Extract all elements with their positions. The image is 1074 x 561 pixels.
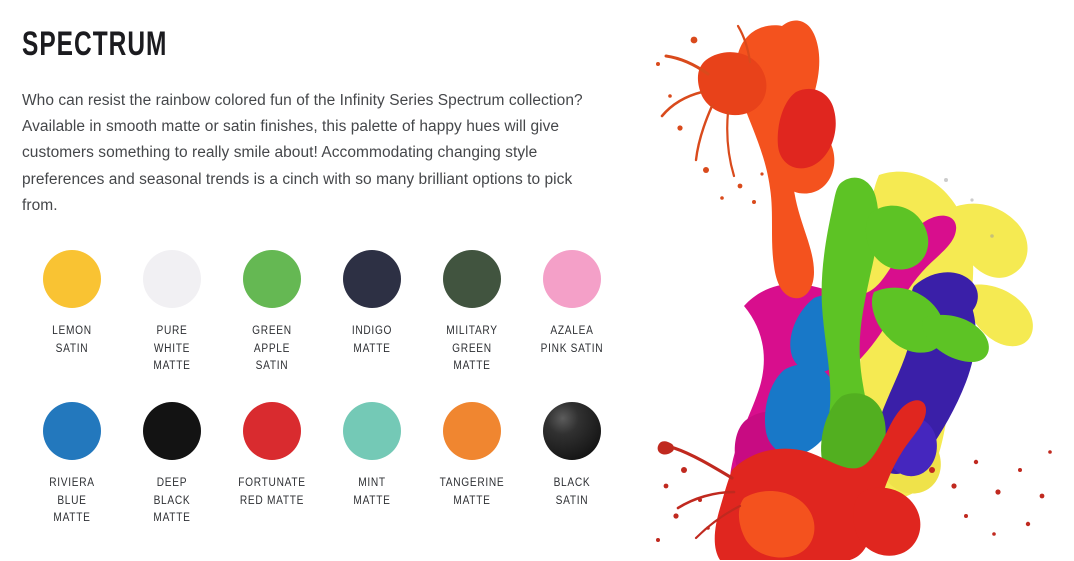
swatch-row-1: LEMON SATIN PURE WHITE MATTE GREEN APPLE… — [22, 250, 622, 402]
swatch-lemon-satin[interactable]: LEMON SATIN — [22, 250, 122, 357]
swatch-color-circle[interactable] — [143, 250, 201, 308]
swatch-fortunate-red-matte[interactable]: FORTUNATE RED MATTE — [222, 402, 322, 509]
swatch-color-circle[interactable] — [243, 402, 301, 460]
swatch-label: MILITARY GREEN MATTE — [424, 322, 521, 375]
paint-splash-image — [636, 0, 1074, 561]
page-title: SPECTRUM — [22, 24, 167, 64]
swatch-label: RIVIERA BLUE MATTE — [24, 474, 121, 527]
swatch-deep-black-matte[interactable]: DEEP BLACK MATTE — [122, 402, 222, 527]
swatch-color-circle[interactable] — [543, 250, 601, 308]
color-swatch-grid: LEMON SATIN PURE WHITE MATTE GREEN APPLE… — [22, 250, 622, 554]
swatch-label: GREEN APPLE SATIN — [224, 322, 321, 375]
swatch-label: MINT MATTE — [324, 474, 421, 509]
swatch-row-2: RIVIERA BLUE MATTE DEEP BLACK MATTE FORT… — [22, 402, 622, 554]
swatch-color-circle[interactable] — [43, 402, 101, 460]
swatch-riviera-blue-matte[interactable]: RIVIERA BLUE MATTE — [22, 402, 122, 527]
paint-splash-illustration — [636, 0, 1074, 561]
swatch-label: DEEP BLACK MATTE — [124, 474, 221, 527]
swatch-color-circle[interactable] — [443, 250, 501, 308]
swatch-indigo-matte[interactable]: INDIGO MATTE — [322, 250, 422, 357]
swatch-color-circle[interactable] — [543, 402, 601, 460]
swatch-label: BLACK SATIN — [524, 474, 621, 509]
swatch-label: INDIGO MATTE — [324, 322, 421, 357]
swatch-military-green-matte[interactable]: MILITARY GREEN MATTE — [422, 250, 522, 375]
swatch-color-circle[interactable] — [243, 250, 301, 308]
swatch-label: TANGERINE MATTE — [424, 474, 521, 509]
swatch-pure-white-matte[interactable]: PURE WHITE MATTE — [122, 250, 222, 375]
swatch-label: LEMON SATIN — [24, 322, 121, 357]
description-paragraph: Who can resist the rainbow colored fun o… — [22, 88, 588, 219]
swatch-color-circle[interactable] — [443, 402, 501, 460]
content-column: SPECTRUM Who can resist the rainbow colo… — [0, 0, 640, 561]
swatch-green-apple-satin[interactable]: GREEN APPLE SATIN — [222, 250, 322, 375]
swatch-mint-matte[interactable]: MINT MATTE — [322, 402, 422, 509]
swatch-tangerine-matte[interactable]: TANGERINE MATTE — [422, 402, 522, 509]
swatch-color-circle[interactable] — [343, 250, 401, 308]
swatch-color-circle[interactable] — [43, 250, 101, 308]
swatch-black-satin[interactable]: BLACK SATIN — [522, 402, 622, 509]
swatch-color-circle[interactable] — [343, 402, 401, 460]
swatch-color-circle[interactable] — [143, 402, 201, 460]
swatch-label: FORTUNATE RED MATTE — [224, 474, 321, 509]
swatch-azalea-pink-satin[interactable]: AZALEA PINK SATIN — [522, 250, 622, 357]
swatch-label: PURE WHITE MATTE — [124, 322, 221, 375]
swatch-label: AZALEA PINK SATIN — [524, 322, 621, 357]
spectrum-page: SPECTRUM Who can resist the rainbow colo… — [0, 0, 1074, 561]
